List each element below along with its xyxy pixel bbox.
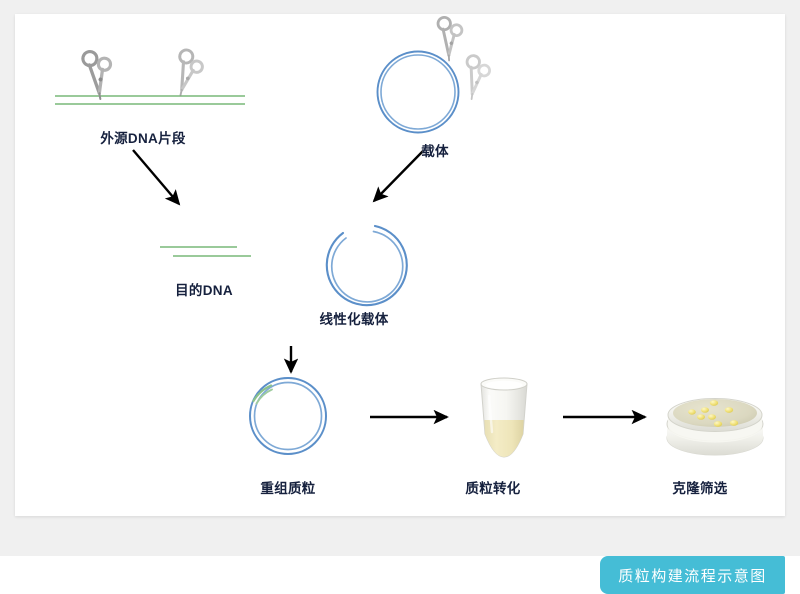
label-transformation: 质粒转化 <box>465 477 520 497</box>
diagram-caption-badge: 质粒构建流程示意图 <box>600 556 785 594</box>
label-linear-vector: 线性化载体 <box>320 308 389 328</box>
arrow-icon-vector-to-linear <box>374 151 423 201</box>
diagram-stage: 外源DNA片段 载体 目的DNA 线性化载体 重组质粒 质粒转化 克隆筛选 <box>15 14 785 516</box>
diagram-card: 外源DNA片段 载体 目的DNA 线性化载体 重组质粒 质粒转化 克隆筛选 <box>15 14 785 516</box>
label-clone-screening: 克隆筛选 <box>672 477 727 497</box>
label-foreign-dna: 外源DNA片段 <box>100 127 185 147</box>
recombinant-plasmid-icon <box>250 378 326 454</box>
petri-dish-icon <box>667 399 763 456</box>
microcentrifuge-tube-icon <box>481 378 527 457</box>
foreign-dna-graphic <box>55 96 245 104</box>
plasmid-circle-icon <box>378 52 459 133</box>
diagram-canvas <box>15 14 785 516</box>
target-dna-graphic <box>160 247 251 256</box>
scissors-icon-vector-right <box>450 52 497 99</box>
arrow-icon-dna-to-target <box>133 150 179 204</box>
scissors-icon-right <box>161 46 209 95</box>
label-target-dna: 目的DNA <box>175 279 233 299</box>
open-plasmid-icon <box>327 226 407 305</box>
scissors-icon-left <box>69 47 122 99</box>
label-recombinant-plasmid: 重组质粒 <box>260 477 315 497</box>
label-vector: 载体 <box>421 140 449 160</box>
diagram-caption-text: 质粒构建流程示意图 <box>618 565 767 586</box>
